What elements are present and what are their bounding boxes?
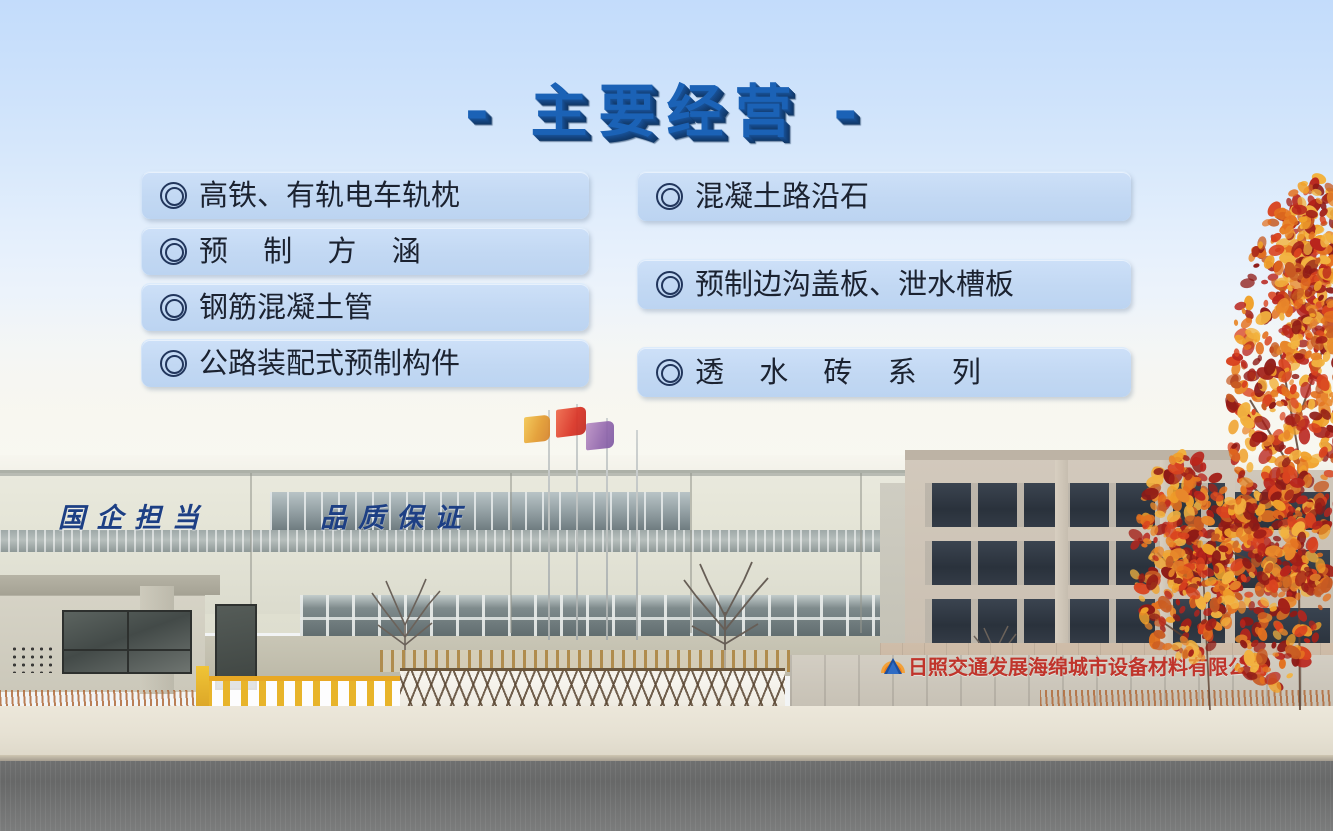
poster-title: - 主要经营 - bbox=[465, 66, 868, 148]
double-circle-icon bbox=[160, 182, 187, 209]
service-item[interactable]: 钢筋混凝土管 bbox=[141, 283, 589, 331]
office-roof bbox=[905, 450, 1235, 460]
flag-red bbox=[556, 406, 586, 438]
building-sign: 国企担当 bbox=[58, 496, 210, 535]
poster-canvas: - 主要经营 - 高铁、有轨电车轨枕 预 制 方 涵 钢筋混凝土管 公路装配式预… bbox=[0, 0, 1333, 831]
service-label: 透 水 砖 系 列 bbox=[695, 358, 994, 387]
factory-panel-seam bbox=[860, 473, 862, 633]
company-name: 日照交通发展海绵城市设备材料有限公司 bbox=[908, 651, 1268, 680]
double-circle-icon bbox=[656, 271, 683, 298]
pavement bbox=[0, 706, 1333, 758]
double-circle-icon bbox=[160, 294, 187, 321]
double-circle-icon bbox=[160, 350, 187, 377]
service-item[interactable]: 高铁、有轨电车轨枕 bbox=[141, 171, 589, 219]
service-label: 预制边沟盖板、泄水槽板 bbox=[695, 270, 1014, 299]
service-label: 公路装配式预制构件 bbox=[199, 349, 460, 378]
double-circle-icon bbox=[656, 183, 683, 210]
service-item[interactable]: 公路装配式预制构件 bbox=[141, 339, 589, 387]
flag-yellow bbox=[524, 415, 550, 444]
flagpole bbox=[606, 418, 608, 640]
services-right-column: 混凝土路沿石 预制边沟盖板、泄水槽板 透 水 砖 系 列 bbox=[637, 171, 1131, 397]
factory-panel-seam bbox=[510, 473, 512, 633]
flagpole bbox=[576, 404, 578, 640]
poster-title-wrap: - 主要经营 - bbox=[0, 66, 1333, 148]
building-sign: 品质保证 bbox=[320, 496, 472, 535]
services-left-column: 高铁、有轨电车轨枕 预 制 方 涵 钢筋混凝土管 公路装配式预制构件 bbox=[141, 171, 589, 387]
vent-grille-icon bbox=[10, 645, 56, 673]
flag-purple bbox=[586, 421, 614, 451]
guardhouse-window bbox=[62, 610, 192, 674]
office-window-row bbox=[925, 483, 1225, 527]
sun-mountain-logo bbox=[879, 651, 907, 677]
service-item[interactable]: 预 制 方 涵 bbox=[141, 227, 589, 275]
flagpole bbox=[548, 410, 550, 640]
flagpole bbox=[636, 430, 638, 640]
service-label: 预 制 方 涵 bbox=[199, 237, 434, 266]
yellow-barrier-fence bbox=[205, 676, 400, 710]
service-item[interactable]: 预制边沟盖板、泄水槽板 bbox=[637, 259, 1131, 309]
office-pillar bbox=[1160, 460, 1173, 660]
service-item[interactable]: 透 水 砖 系 列 bbox=[637, 347, 1131, 397]
service-label: 钢筋混凝土管 bbox=[199, 293, 373, 322]
asphalt-road bbox=[0, 761, 1333, 831]
double-circle-icon bbox=[160, 238, 187, 265]
double-circle-icon bbox=[656, 359, 683, 386]
service-label: 混凝土路沿石 bbox=[695, 182, 869, 211]
service-item[interactable]: 混凝土路沿石 bbox=[637, 171, 1131, 221]
office-window-row bbox=[925, 541, 1225, 585]
guardhouse-canopy bbox=[0, 575, 220, 595]
office-pillar bbox=[1055, 460, 1068, 660]
service-label: 高铁、有轨电车轨枕 bbox=[199, 181, 460, 210]
